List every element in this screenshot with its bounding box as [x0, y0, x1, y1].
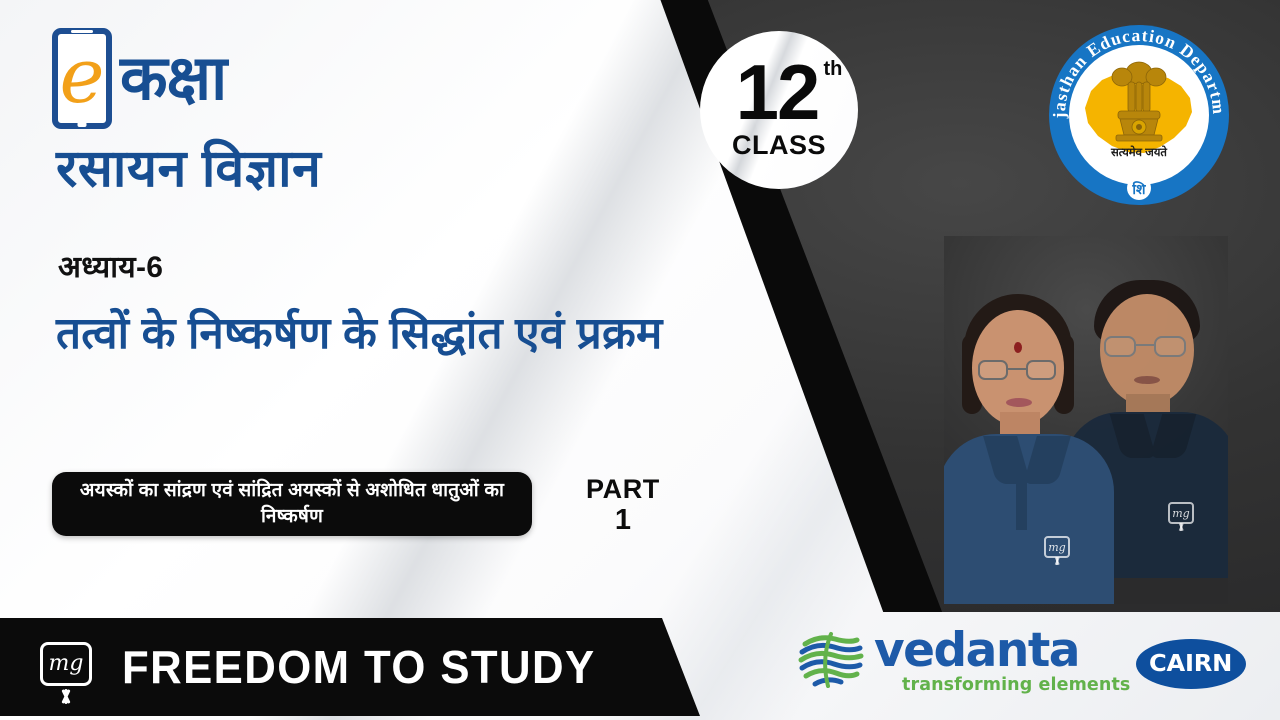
topic-badge: अयस्कों का सांद्रण एवं सांद्रित अयस्कों … — [52, 472, 532, 536]
seal-bottom-glyph: शि — [1131, 181, 1146, 197]
rajasthan-education-department-seal: Rajasthan Education Department सत्यमेव ज… — [1040, 16, 1238, 214]
class-badge: 12 th CLASS — [700, 31, 858, 189]
chapter-label: अध्याय-6 — [58, 245, 163, 286]
footer-tagline: FREEDOM TO STUDY — [122, 640, 596, 694]
mg-shirt-badge: mg — [1168, 502, 1194, 524]
title-card: e कक्षा रसायन विज्ञान अध्याय-6 तत्वों के… — [0, 0, 1280, 720]
brand-letter-e: e — [60, 45, 105, 107]
mg-badge-text: mg — [1044, 536, 1070, 558]
part-number: 1 — [586, 504, 660, 536]
mg-logo-text: mg — [49, 653, 84, 675]
seal-motto: सत्यमेव जयते — [1110, 145, 1167, 159]
class-number: 12 th — [736, 59, 823, 126]
vedanta-globe-icon — [797, 624, 865, 692]
mg-badge-text: mg — [1168, 502, 1194, 524]
footer-bar: mg FREEDOM TO STUDY — [0, 618, 700, 716]
female-presenter: mg — [944, 286, 1114, 604]
cairn-logo: CAIRN — [1136, 639, 1246, 689]
mg-easel-icon: mg — [40, 642, 92, 692]
class-number-value: 12 — [736, 48, 819, 136]
ekaksha-brand-logo: e कक्षा — [52, 28, 226, 129]
topic-text: अयस्कों का सांद्रण एवं सांद्रित अयस्कों … — [68, 478, 516, 529]
vedanta-logo: vedanta transforming elements — [797, 624, 1130, 695]
mg-shirt-badge: mg — [1044, 536, 1070, 558]
cairn-wordmark: CAIRN — [1149, 651, 1232, 677]
part-label: PART — [586, 475, 660, 504]
subject-heading: रसायन विज्ञान — [56, 142, 321, 197]
vedanta-tagline: transforming elements — [902, 675, 1130, 695]
presenter-video: mg mg — [944, 236, 1228, 604]
page-title: तत्वों के निष्कर्षण के सिद्धांत एवं प्रक… — [56, 305, 696, 363]
brand-word: कक्षा — [120, 48, 226, 110]
smartphone-icon: e — [52, 28, 112, 129]
vedanta-wordmark: vedanta — [874, 628, 1130, 673]
part-indicator: PART 1 — [586, 475, 660, 537]
class-ordinal-suffix: th — [823, 61, 842, 78]
